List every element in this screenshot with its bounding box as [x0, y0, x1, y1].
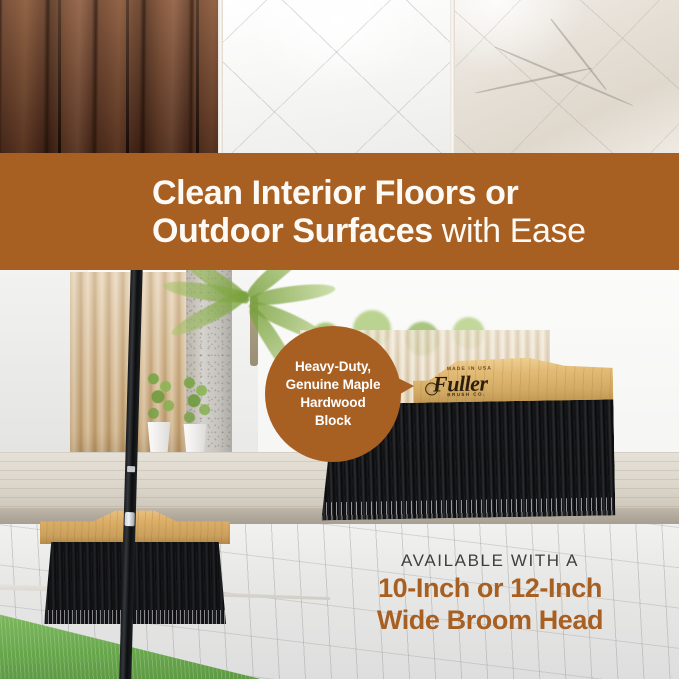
size-line-1: 10-Inch or 12-Inch [340, 573, 640, 605]
handle-ferrule [125, 512, 135, 526]
headline-line-2: Outdoor Surfaces with Ease [152, 212, 664, 250]
patio-scene: MADE IN USA Fuller BRUSH CO. Heavy-Duty,… [0, 270, 679, 679]
availability-eyebrow: AVAILABLE WITH A [340, 550, 640, 573]
size-availability-block: AVAILABLE WITH A 10-Inch or 12-Inch Wide… [340, 550, 640, 637]
callout-text: Heavy-Duty, Genuine Maple Hardwood Block [286, 358, 381, 430]
marble-floor-panel [455, 0, 679, 153]
brush-co-text: BRUSH CO. [447, 392, 485, 398]
size-line-2: Wide Broom Head [340, 605, 640, 637]
headline-line-2-light: with Ease [433, 212, 586, 250]
white-tile-floor-panel [223, 0, 450, 153]
product-marketing-image: Clean Interior Floors or Outdoor Surface… [0, 0, 679, 679]
callout-line-3: Hardwood [300, 395, 365, 410]
potted-plant [142, 366, 180, 430]
callout-line-4: Block [315, 413, 351, 428]
headline-line-2-bold: Outdoor Surfaces [152, 212, 433, 250]
floor-types-strip [0, 0, 679, 153]
callout-line-1: Heavy-Duty, [295, 359, 371, 374]
broom-bristles-small [44, 542, 226, 624]
headline-line-1: Clean Interior Floors or [152, 173, 664, 211]
callout-line-2: Genuine Maple [286, 377, 381, 392]
hardwood-floor-panel [0, 0, 218, 153]
headline-banner: Clean Interior Floors or Outdoor Surface… [0, 153, 679, 270]
feature-callout-badge: Heavy-Duty, Genuine Maple Hardwood Block [265, 326, 401, 462]
handle-clip-icon [127, 466, 135, 472]
